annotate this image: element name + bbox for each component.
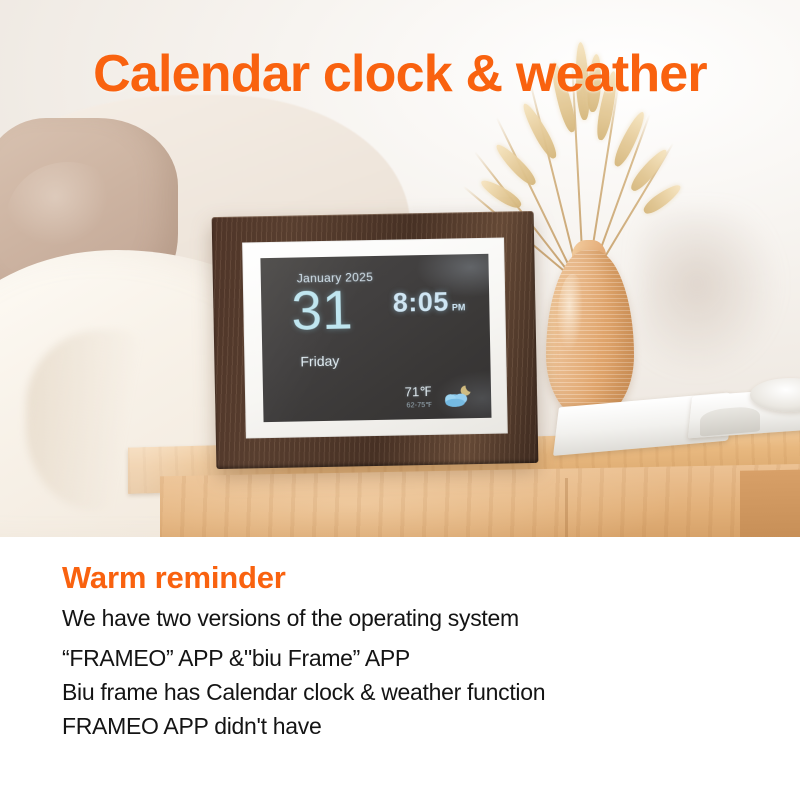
device-screen[interactable]: January 2025 31 Friday 8:05 PM 71℉ 62-75… xyxy=(260,254,491,422)
reminder-line-1: We have two versions of the operating sy… xyxy=(62,607,754,630)
screen-temperature-range: 62-75℉ xyxy=(405,400,433,409)
reminder-line-4: FRAMEO APP didn't have xyxy=(62,715,754,738)
reminder-section: Warm reminder We have two versions of th… xyxy=(0,537,800,800)
product-photo: January 2025 31 Friday 8:05 PM 71℉ 62-75… xyxy=(0,0,800,537)
frame-white-mat: January 2025 31 Friday 8:05 PM 71℉ 62-75… xyxy=(242,238,508,439)
page-title: Calendar clock & weather xyxy=(0,48,800,100)
moon-behind-cloud-icon xyxy=(441,382,475,409)
reminder-line-2: “FRAMEO” APP &"biu Frame” APP xyxy=(62,647,754,670)
screen-temperature: 71℉ xyxy=(404,383,432,400)
screen-clock-meridiem: PM xyxy=(452,302,466,312)
screen-weather-text: 71℉ 62-75℉ xyxy=(404,383,432,409)
screen-day-number: 31 xyxy=(291,282,353,338)
screen-clock: 8:05 PM xyxy=(392,286,465,318)
nightstand-front xyxy=(160,464,800,537)
screen-clock-time: 8:05 xyxy=(392,287,449,319)
product-infographic: January 2025 31 Friday 8:05 PM 71℉ 62-75… xyxy=(0,0,800,800)
nightstand-side xyxy=(740,469,800,537)
nightstand-seam xyxy=(565,478,568,537)
screen-weekday-label: Friday xyxy=(300,353,339,370)
reminder-title: Warm reminder xyxy=(62,561,754,595)
digital-photo-frame[interactable]: January 2025 31 Friday 8:05 PM 71℉ 62-75… xyxy=(212,211,539,469)
reminder-line-3: Biu frame has Calendar clock & weather f… xyxy=(62,681,754,704)
screen-weather-widget: 71℉ 62-75℉ xyxy=(404,382,475,409)
